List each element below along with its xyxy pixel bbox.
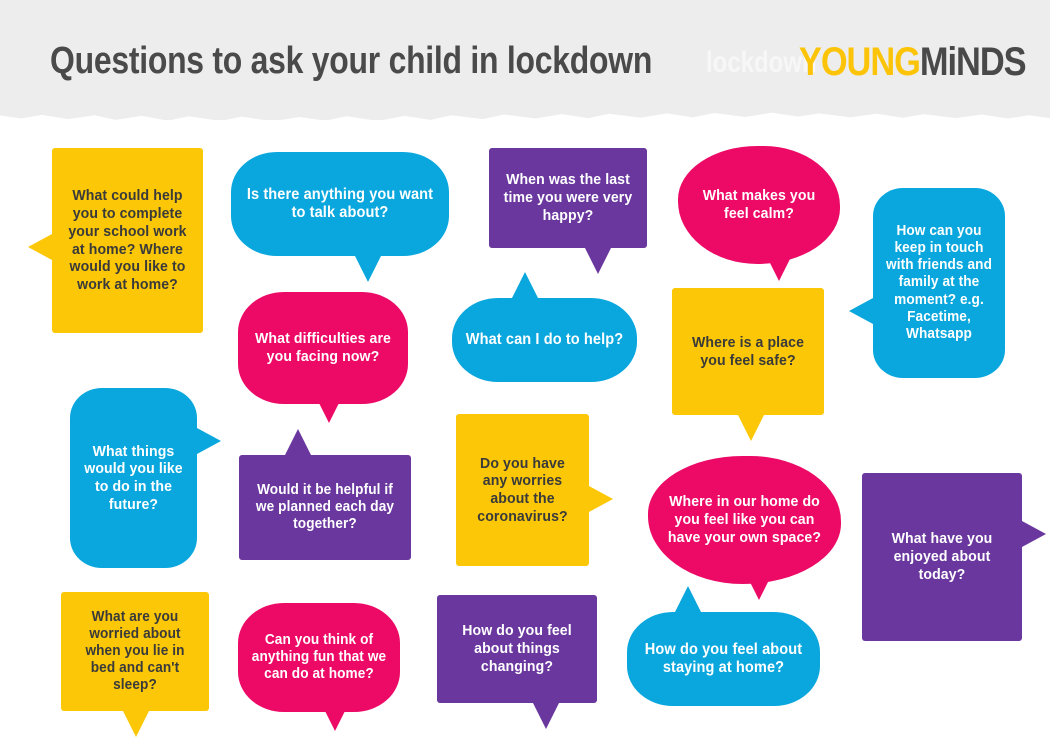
bubble-what-could-help-school-work[interactable]: What could help you to complete your sch… <box>52 148 203 333</box>
logo-young-text: YOUNG <box>799 40 920 84</box>
bubble-text: Is there anything you want to talk about… <box>238 186 443 223</box>
bubble-tail-down <box>322 705 348 731</box>
infographic-poster: Questions to ask your child in lockdown … <box>0 0 1050 745</box>
bubble-own-space-in-our-home[interactable]: Where in our home do you feel like you c… <box>648 456 841 584</box>
bubble-feel-about-staying-at-home[interactable]: How do you feel about staying at home? <box>627 612 820 706</box>
bubble-text: Where in our home do you feel like you c… <box>654 493 835 546</box>
bubble-text: What things would you like to do in the … <box>74 443 193 514</box>
bubble-tail-down <box>585 248 611 274</box>
bubble-text: When was the last time you were very hap… <box>494 171 643 224</box>
bubble-tail-up <box>675 586 701 612</box>
bubble-tail-left <box>849 298 873 324</box>
bubble-tail-down <box>738 415 764 441</box>
bubble-text: What can I do to help? <box>458 331 632 349</box>
bubble-tail-down <box>316 397 342 423</box>
bubble-tail-up <box>285 429 311 455</box>
bubble-what-makes-you-feel-calm[interactable]: What makes you feel calm? <box>678 146 840 264</box>
bubble-tail-right <box>197 428 221 454</box>
bubble-text: What makes you feel calm? <box>683 187 835 222</box>
bubble-text: What have you enjoyed about today? <box>867 530 1017 583</box>
page-title: Questions to ask your child in lockdown <box>50 40 652 83</box>
bubble-what-have-you-enjoyed-today[interactable]: What have you enjoyed about today? <box>862 473 1022 641</box>
bubble-tail-down <box>766 255 792 281</box>
bubble-what-can-i-do-to-help[interactable]: What can I do to help? <box>452 298 637 382</box>
bubble-what-things-in-the-future[interactable]: What things would you like to do in the … <box>70 388 197 568</box>
bubble-tail-down <box>355 256 381 282</box>
bubble-text: Would it be helpful if we planned each d… <box>244 482 406 533</box>
logo-minds-text: MiNDS <box>920 40 1026 84</box>
bubble-text: How do you feel about things changing? <box>442 622 592 675</box>
bubble-plan-each-day-together[interactable]: Would it be helpful if we planned each d… <box>239 455 411 560</box>
bubble-what-difficulties-facing[interactable]: What difficulties are you facing now? <box>238 292 408 404</box>
bubble-tail-down <box>123 711 149 737</box>
bubble-tail-down <box>533 703 559 729</box>
bubble-where-is-a-place-you-feel-safe[interactable]: Where is a place you feel safe? <box>672 288 824 415</box>
bubble-anything-fun-at-home[interactable]: Can you think of anything fun that we ca… <box>238 603 400 712</box>
bubble-text: Do you have any worries about the corona… <box>460 455 585 526</box>
bubble-feel-about-things-changing[interactable]: How do you feel about things changing? <box>437 595 597 703</box>
bubble-text: What could help you to complete your sch… <box>57 187 199 293</box>
bubble-worried-lie-in-bed[interactable]: What are you worried about when you lie … <box>61 592 209 711</box>
bubble-text: How can you keep in touch with friends a… <box>877 223 1001 343</box>
bubble-tail-right <box>589 486 613 512</box>
bubble-text: Can you think of anything fun that we ca… <box>243 632 395 683</box>
bubble-keep-in-touch[interactable]: How can you keep in touch with friends a… <box>873 188 1005 378</box>
bubble-tail-down <box>746 574 772 600</box>
bubble-tail-up <box>512 272 538 298</box>
bubble-worries-about-coronavirus[interactable]: Do you have any worries about the corona… <box>456 414 589 566</box>
bubble-anything-you-want-to-talk[interactable]: Is there anything you want to talk about… <box>231 152 449 256</box>
bubble-tail-left <box>28 234 52 260</box>
bubble-text: Where is a place you feel safe? <box>677 334 820 369</box>
bubble-text: How do you feel about staying at home? <box>633 641 814 678</box>
bubble-text: What are you worried about when you lie … <box>65 609 204 695</box>
bubble-tail-right <box>1022 521 1046 547</box>
bubble-text: What difficulties are you facing now? <box>243 330 403 365</box>
youngminds-logo: YOUNGMiNDS <box>799 40 1026 85</box>
bubble-last-time-very-happy[interactable]: When was the last time you were very hap… <box>489 148 647 248</box>
